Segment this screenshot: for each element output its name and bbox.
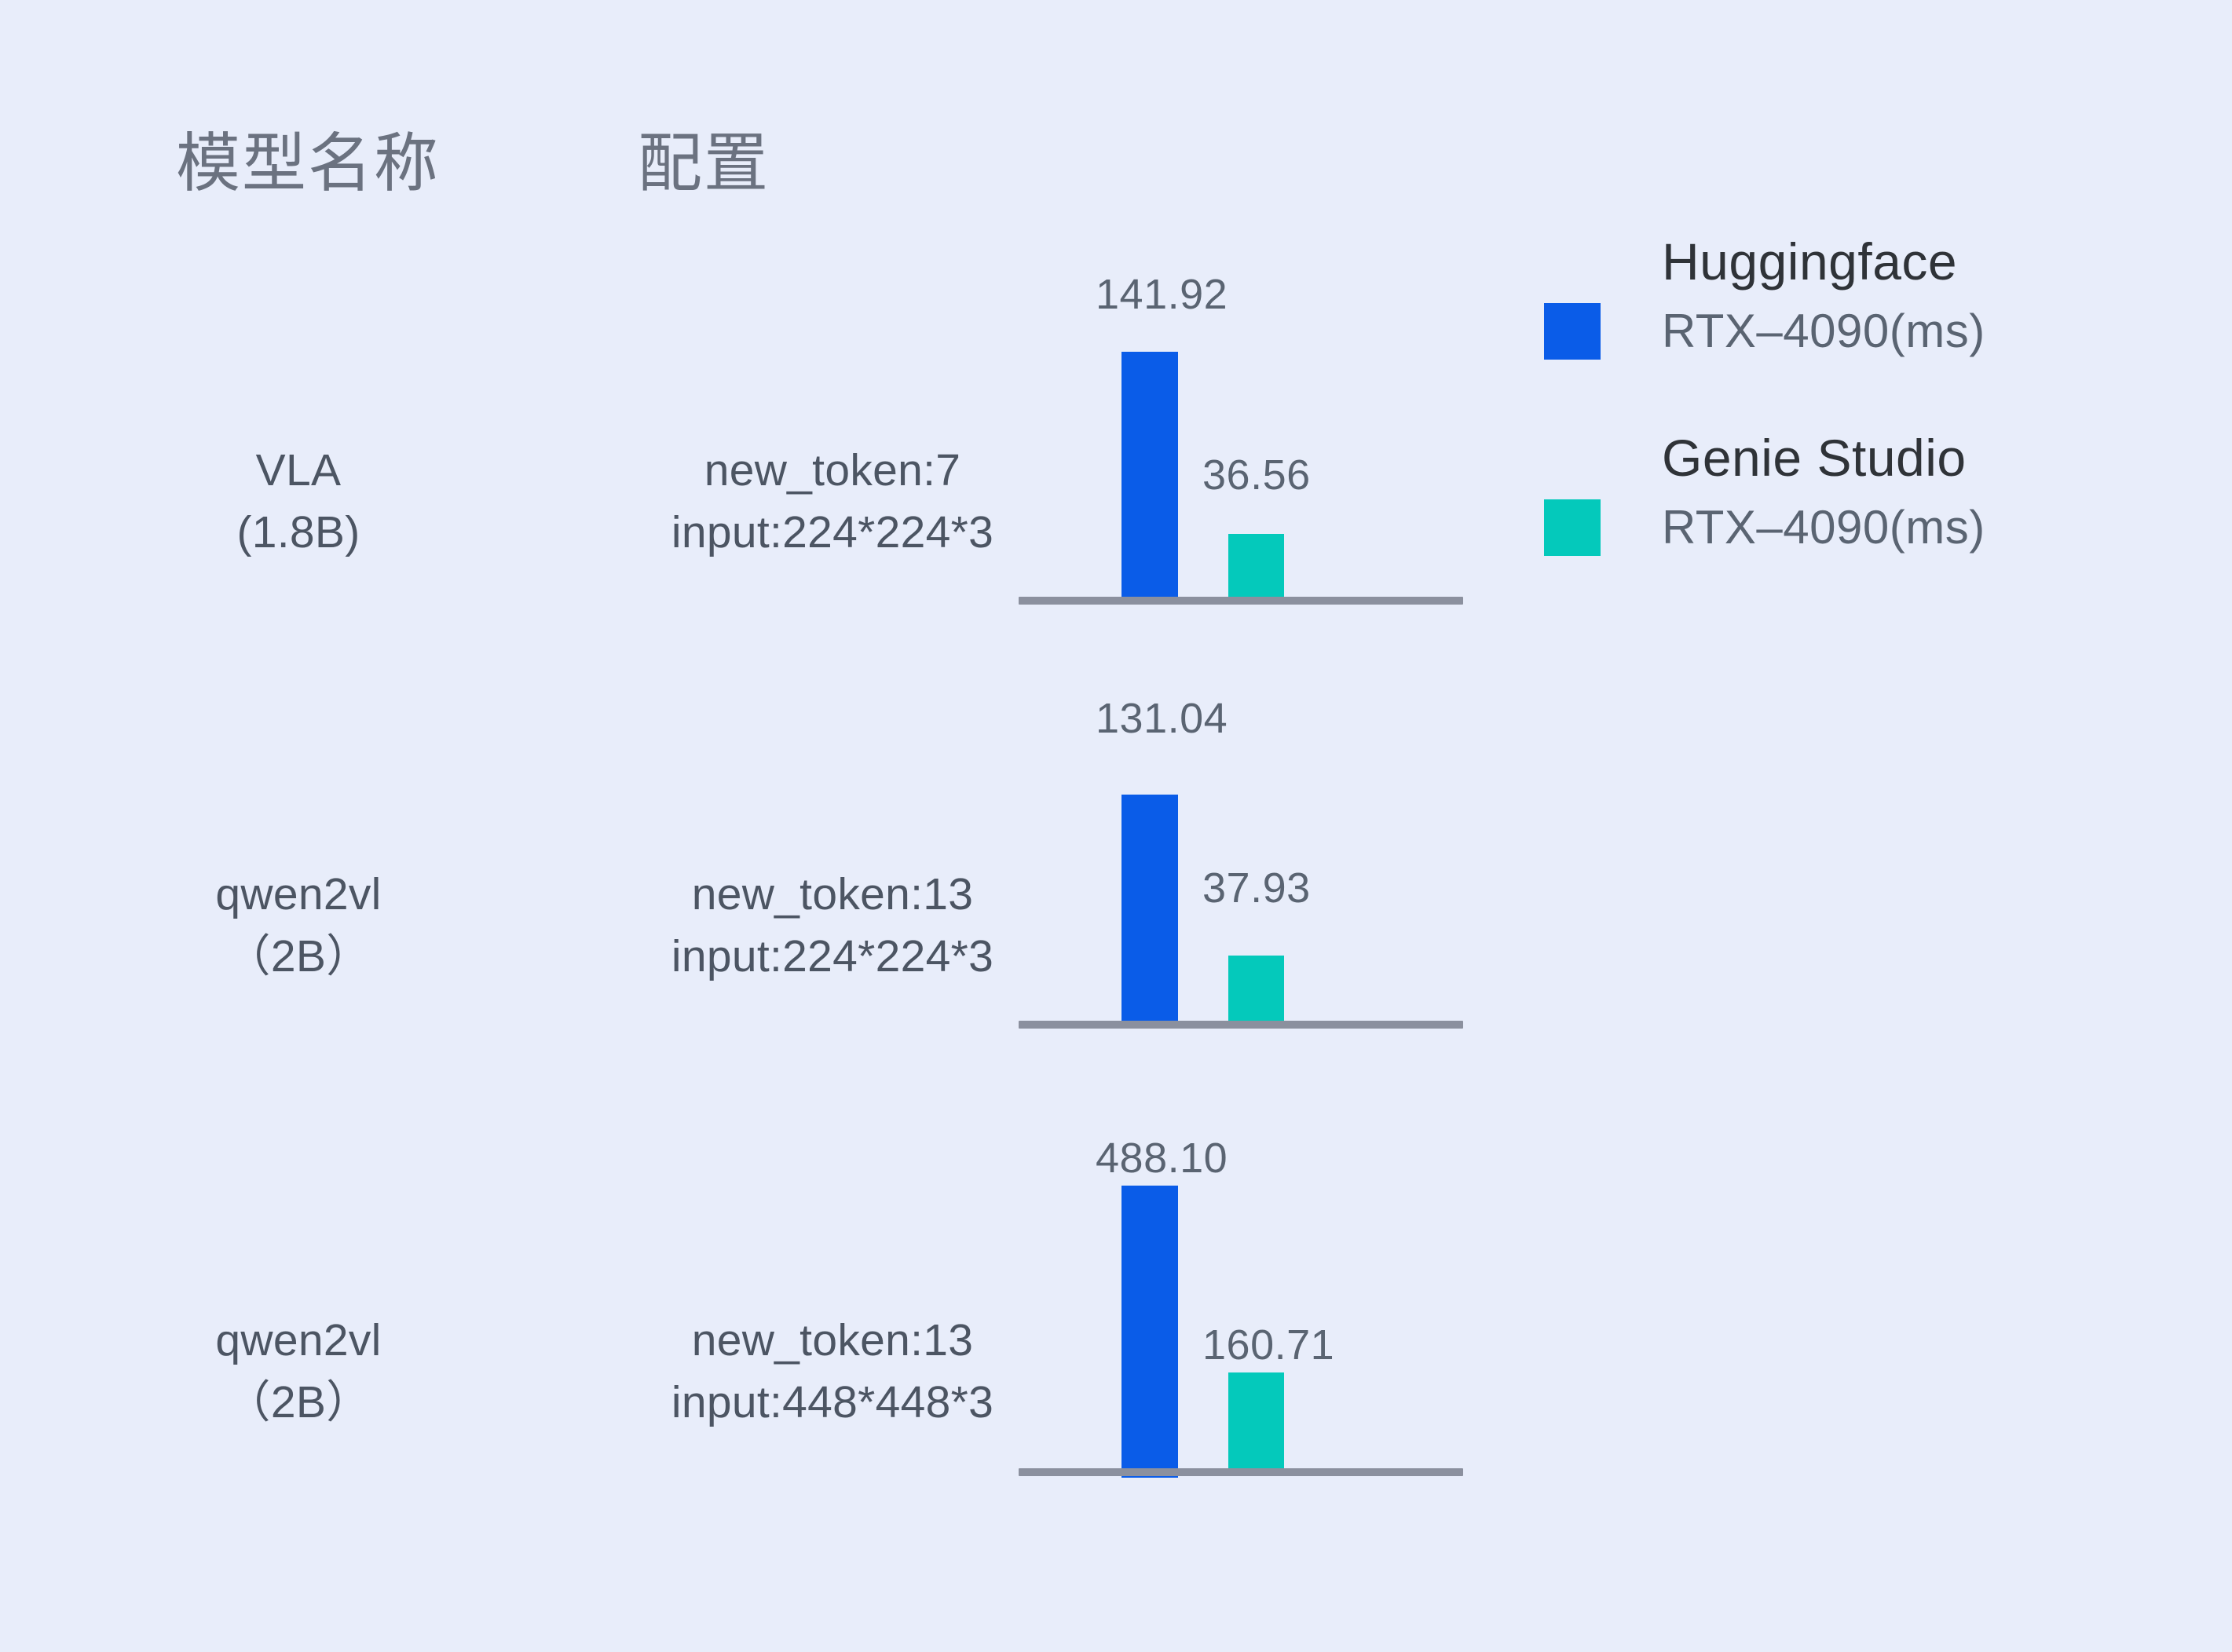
bar-huggingface[interactable] [1121, 1186, 1178, 1478]
teal-square-swatch-icon [1544, 499, 1601, 556]
legend-title-genie-studio: Genie Studio [1662, 432, 1967, 484]
axis-baseline [1019, 1468, 1463, 1476]
bar-value-label-huggingface: 141.92 [1096, 273, 1228, 316]
bar-value-label-genie-studio: 37.93 [1202, 867, 1311, 909]
legend-item-genie-studio[interactable]: Genie Studio RTX–4090(ms) [1544, 432, 2141, 628]
bar-value-label-huggingface: 488.10 [1096, 1137, 1228, 1179]
bar-value-label-genie-studio: 160.71 [1202, 1324, 1334, 1366]
blue-square-swatch-icon [1544, 303, 1601, 360]
bar-genie-studio[interactable] [1228, 534, 1284, 597]
axis-baseline [1019, 1021, 1463, 1029]
bar-chart-panel: 488.10 160.71 [1019, 1123, 1463, 1476]
column-header-model-name: 模型名称 [176, 132, 440, 196]
row-model-label: VLA (1.8B) [126, 440, 471, 563]
bar-huggingface[interactable] [1121, 795, 1178, 1021]
bar-genie-studio[interactable] [1228, 956, 1284, 1021]
axis-baseline [1019, 597, 1463, 605]
bar-chart-panel: 141.92 36.56 [1019, 267, 1463, 605]
row-model-label: qwen2vl （2B） [126, 1310, 471, 1433]
legend-subtitle-genie-studio: RTX–4090(ms) [1662, 504, 1985, 551]
legend-item-huggingface[interactable]: Huggingface RTX–4090(ms) [1544, 236, 2141, 432]
row-model-label: qwen2vl （2B） [126, 864, 471, 987]
legend-subtitle-huggingface: RTX–4090(ms) [1662, 308, 1985, 355]
bar-genie-studio[interactable] [1228, 1372, 1284, 1468]
column-header-config: 配置 [638, 132, 770, 196]
bar-value-label-huggingface: 131.04 [1096, 697, 1228, 740]
chart-legend: Huggingface RTX–4090(ms) Genie Studio RT… [1544, 236, 2141, 628]
chart-page: 模型名称 配置 VLA (1.8B) new_token:7 input:224… [0, 0, 2232, 1652]
bar-value-label-genie-studio: 36.56 [1202, 454, 1311, 496]
legend-title-huggingface: Huggingface [1662, 236, 1957, 287]
bar-huggingface[interactable] [1121, 352, 1178, 597]
bar-chart-panel: 131.04 37.93 [1019, 691, 1463, 1029]
